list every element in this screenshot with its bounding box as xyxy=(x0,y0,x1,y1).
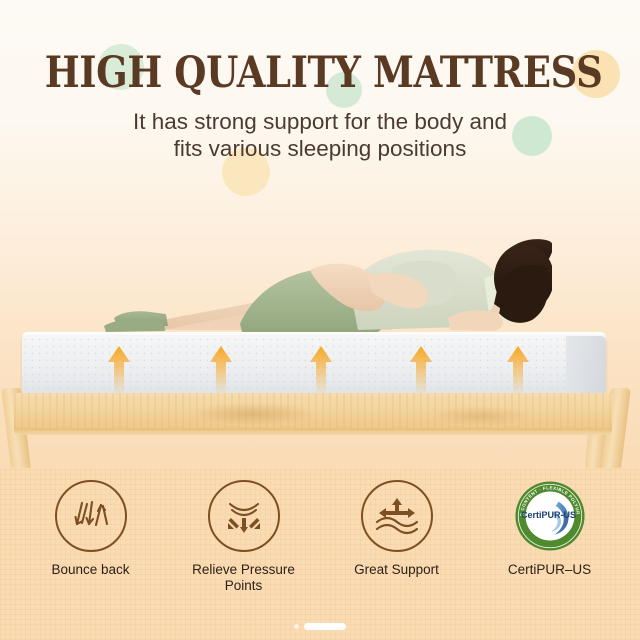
pagination-active-indicator[interactable] xyxy=(304,623,346,630)
product-infographic: HIGH QUALITY MATTRESS It has strong supp… xyxy=(0,0,640,640)
bed-frame-rail xyxy=(14,393,612,431)
page-title: HIGH QUALITY MATTRESS xyxy=(45,0,595,95)
mattress-right-face xyxy=(566,336,606,394)
features-row: Bounce back xyxy=(0,468,640,595)
pagination-dot[interactable] xyxy=(294,624,299,629)
bed-frame-lip xyxy=(14,428,612,435)
feature-item-great-support[interactable]: Great Support xyxy=(327,480,467,578)
feature-label: CertiPUR–US xyxy=(480,562,620,578)
feature-item-relieve-pressure[interactable]: Relieve Pressure Points xyxy=(174,480,314,595)
feature-label: Great Support xyxy=(327,562,467,578)
subtitle-line-2: fits various sleeping positions xyxy=(0,135,640,162)
hero-scene: HIGH QUALITY MATTRESS It has strong supp… xyxy=(0,0,640,468)
pagination[interactable] xyxy=(0,620,640,632)
relieve-pressure-arrows-icon xyxy=(208,480,280,552)
bounce-back-arrows-icon xyxy=(55,480,127,552)
feature-item-bounce-back[interactable]: Bounce back xyxy=(21,480,161,578)
feature-label: Bounce back xyxy=(21,562,161,578)
certipur-us-badge-icon: CERTIFIED FOR CONTENT · FLEXIBLE POLYURE… xyxy=(514,480,586,552)
features-strip: Bounce back xyxy=(0,468,640,640)
support-arrow xyxy=(505,344,531,396)
great-support-arrows-icon xyxy=(361,480,433,552)
svg-text:CertiPUR-US: CertiPUR-US xyxy=(521,510,576,520)
sleeping-person-illustration xyxy=(92,226,552,338)
header-block: HIGH QUALITY MATTRESS It has strong supp… xyxy=(0,0,640,163)
support-arrow xyxy=(408,344,434,396)
support-arrow xyxy=(106,344,132,396)
support-arrow xyxy=(208,344,234,396)
support-arrow xyxy=(308,344,334,396)
subtitle-line-1: It has strong support for the body and xyxy=(0,108,640,135)
feature-item-certipur[interactable]: CERTIFIED FOR CONTENT · FLEXIBLE POLYURE… xyxy=(480,480,620,578)
page-subtitle: It has strong support for the body and f… xyxy=(0,108,640,163)
feature-label: Relieve Pressure Points xyxy=(174,562,314,595)
